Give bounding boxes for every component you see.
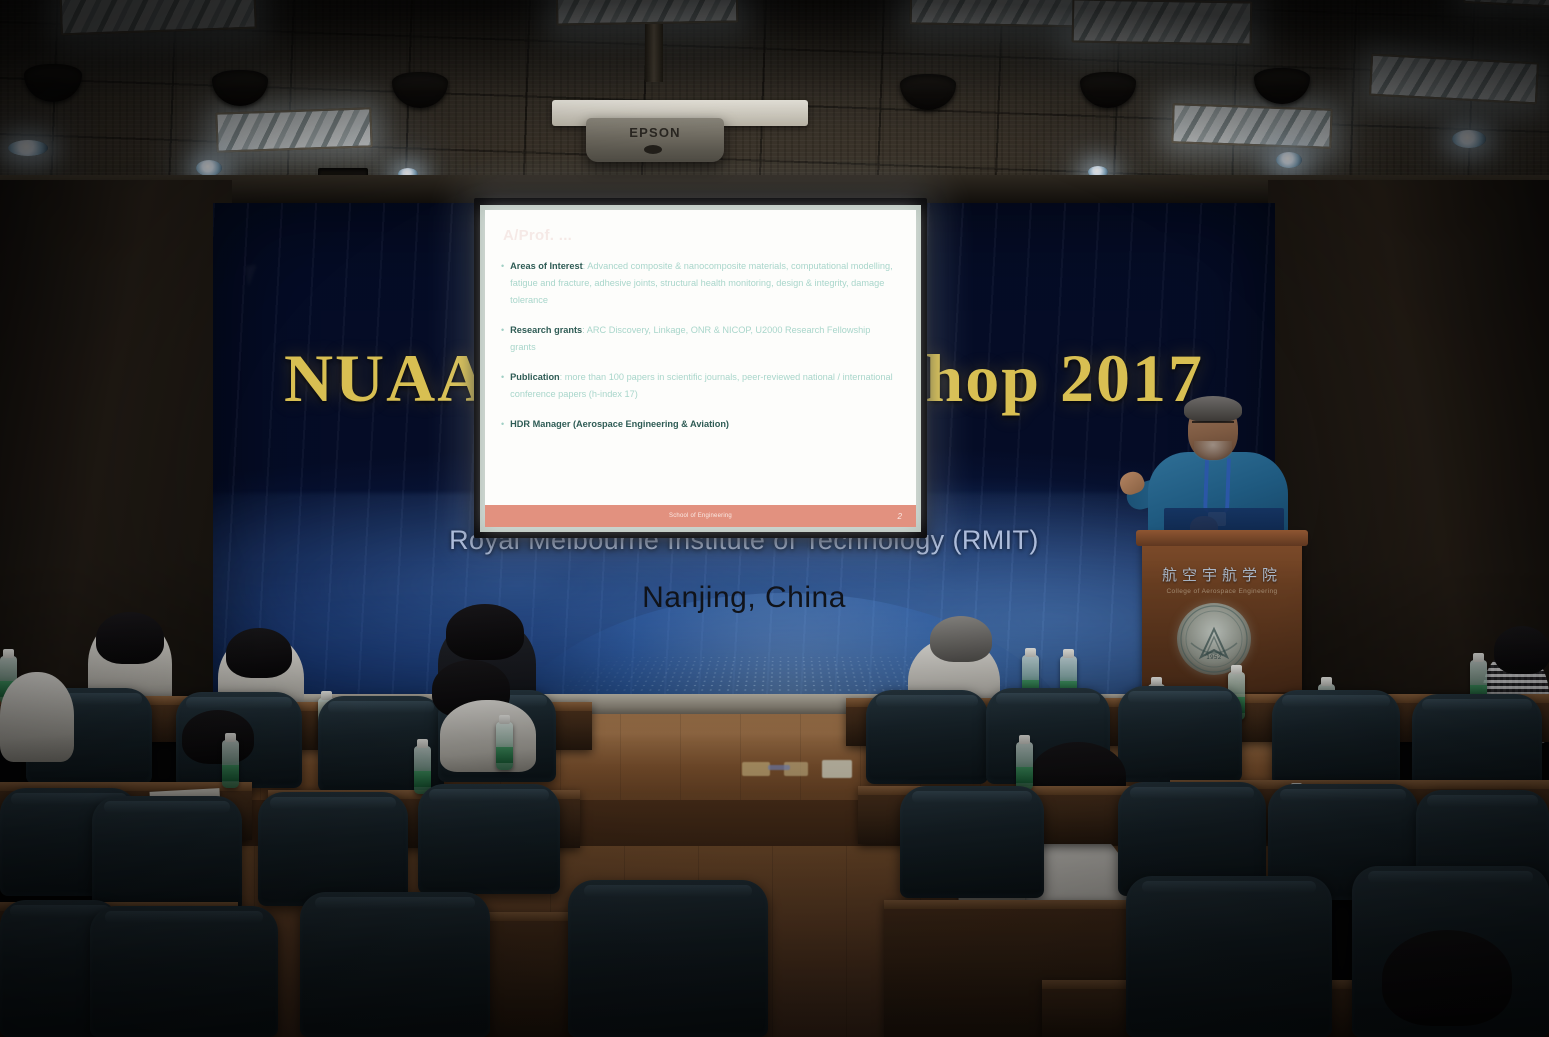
auditorium-seat[interactable] <box>568 880 768 1037</box>
auditorium-seat[interactable] <box>866 690 988 784</box>
auditorium-seat[interactable] <box>1272 690 1400 786</box>
slide-bullet: • Publication: more than 100 papers in s… <box>501 369 896 403</box>
auditorium-seat[interactable] <box>1412 694 1542 790</box>
podium-chinese-label: 航空宇航学院 <box>1142 564 1302 585</box>
projection-screen: A/Prof. ... • Areas of Interest: Advance… <box>474 198 927 538</box>
slide-bullet-text: Areas of Interest: Advanced composite & … <box>510 258 896 309</box>
bottle-label <box>1016 767 1033 783</box>
auditorium-seat[interactable] <box>1118 686 1242 782</box>
bottle-label <box>496 747 513 763</box>
auditorium-seat[interactable] <box>900 786 1044 898</box>
slide-bullet: • Research grants: ARC Discovery, Linkag… <box>501 322 896 356</box>
bullet-dot-icon: • <box>501 258 504 309</box>
conference-hall-scene: EPSON NUAA-RMIT Workshop 2017 Royal Melb… <box>0 0 1549 1037</box>
projector: EPSON <box>586 118 724 162</box>
attendee-hair <box>1494 626 1549 674</box>
auditorium-seat[interactable] <box>258 792 408 906</box>
speaker-lanyard <box>1203 458 1231 515</box>
floor-glint <box>768 765 790 770</box>
attendee-hair <box>930 616 992 662</box>
stage-floor-reflections <box>742 760 872 780</box>
water-bottle <box>496 722 513 770</box>
slide-bullet-label: Areas of Interest <box>510 261 583 271</box>
slide-bullet-label: Publication <box>510 372 560 382</box>
speaker-glasses-icon <box>1192 421 1234 429</box>
banner-city: Nanjing, China <box>213 581 1275 615</box>
slide-bullet: • Areas of Interest: Advanced composite … <box>501 258 896 309</box>
projector-brand-label: EPSON <box>586 125 724 140</box>
water-bottle <box>414 746 431 794</box>
slide-bullet-text: Publication: more than 100 papers in sci… <box>510 369 896 403</box>
screen-surface: A/Prof. ... • Areas of Interest: Advance… <box>480 205 921 532</box>
slide-footer: School of Engineering 2 <box>485 505 916 527</box>
slide-bullet-label: Research grants <box>510 325 582 335</box>
attendee-hair <box>446 604 524 660</box>
auditorium-seat[interactable] <box>1126 876 1332 1037</box>
slide-bullet: • HDR Manager (Aerospace Engineering & A… <box>501 416 896 433</box>
attendee-hair <box>182 710 254 764</box>
desk-surface <box>884 900 1152 909</box>
water-bottle <box>1016 742 1033 790</box>
slide-page-number: 2 <box>898 512 902 521</box>
auditorium-seat[interactable] <box>418 784 560 894</box>
slide-bullet-text: Research grants: ARC Discovery, Linkage,… <box>510 322 896 356</box>
slide-bullet-body: : more than 100 papers in scientific jou… <box>510 372 893 399</box>
attendee-hair <box>96 612 164 664</box>
slide-title: A/Prof. ... <box>503 227 916 244</box>
auditorium-seat[interactable] <box>90 906 278 1037</box>
seal-year: 1952 <box>1177 655 1251 661</box>
attendee-person <box>0 672 74 762</box>
presentation-slide: A/Prof. ... • Areas of Interest: Advance… <box>485 210 916 527</box>
bullet-dot-icon: • <box>501 369 504 403</box>
slide-body: • Areas of Interest: Advanced composite … <box>485 244 916 505</box>
auditorium-seat[interactable] <box>92 796 242 912</box>
auditorium-seat[interactable] <box>300 892 490 1037</box>
slide-bullet-text: HDR Manager (Aerospace Engineering & Avi… <box>510 416 729 433</box>
floor-glint <box>822 760 852 778</box>
projector-lens <box>644 145 662 154</box>
speaker-beard <box>1194 441 1232 461</box>
slide-bullet-label: HDR Manager (Aerospace Engineering & Avi… <box>510 419 729 429</box>
attendee-person <box>440 700 536 772</box>
projector-mount-pole <box>645 24 663 82</box>
bottle-label <box>222 765 239 781</box>
slide-footer-label: School of Engineering <box>669 513 732 519</box>
podium-english-label: College of Aerospace Engineering <box>1142 588 1302 595</box>
bullet-dot-icon: • <box>501 322 504 356</box>
attendee-hair <box>226 628 292 678</box>
water-bottle <box>222 740 239 788</box>
speaker-hair <box>1184 396 1242 422</box>
attendee-hair <box>1382 930 1512 1026</box>
bottle-label <box>414 771 431 787</box>
bullet-dot-icon: • <box>501 416 504 433</box>
floor-glint <box>742 762 770 776</box>
podium-top-surface <box>1136 530 1308 546</box>
